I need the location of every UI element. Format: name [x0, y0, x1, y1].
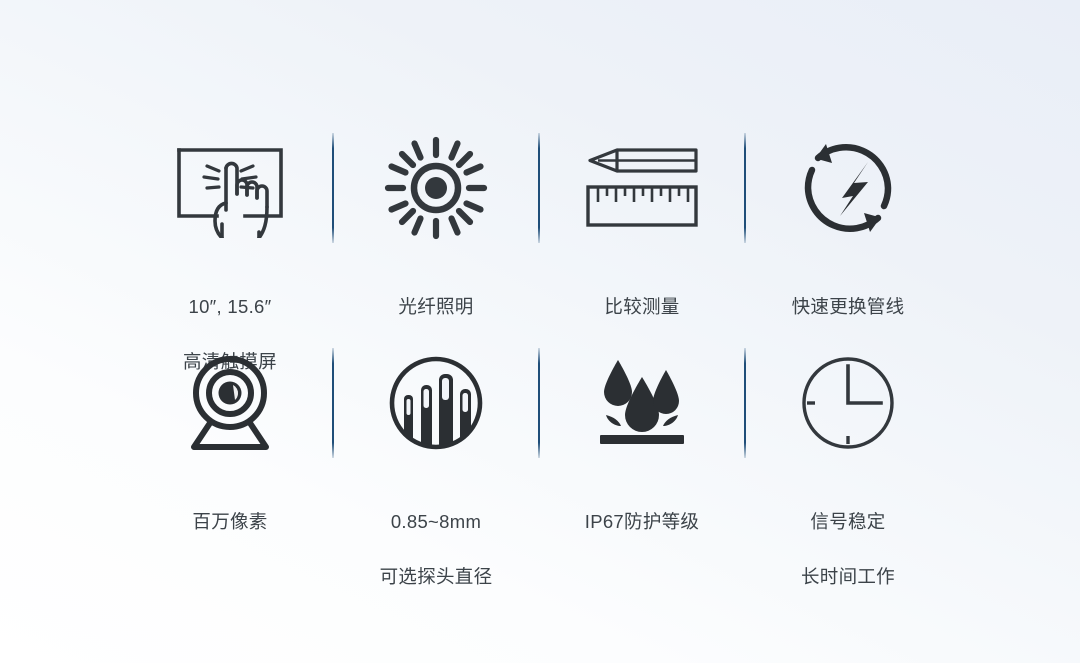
feature-label: 0.85~8mm 可选探头直径 — [380, 481, 493, 618]
feature-label: 信号稳定 长时间工作 — [801, 481, 895, 618]
feature-row: 10″, 15.6″ 高清触摸屏 — [128, 130, 960, 345]
feature-cell-probe-diameter[interactable]: 0.85~8mm 可选探头直径 — [334, 345, 538, 618]
feature-label-line: 长时间工作 — [801, 563, 895, 590]
feature-cell-fiber-light[interactable]: 光纤照明 — [334, 130, 538, 348]
sun-fiber-light-icon — [371, 130, 501, 246]
feature-highlight-panel: 10″, 15.6″ 高清触摸屏 — [0, 0, 1080, 663]
feature-label-line: 比较测量 — [604, 293, 679, 320]
feature-cell-comparative-measure[interactable]: 比较测量 — [540, 130, 744, 348]
feature-label: 百万像素 — [192, 481, 267, 563]
feature-label-line: 10″, 15.6″ — [183, 293, 277, 320]
feature-label-line: IP67防护等级 — [585, 508, 699, 535]
probe-diameter-icon — [371, 345, 501, 461]
feature-label: 光纤照明 — [398, 266, 473, 348]
clock-stable-signal-icon — [783, 345, 913, 461]
feature-label-line: 0.85~8mm — [380, 508, 493, 535]
feature-label-line: 可选探头直径 — [380, 563, 493, 590]
feature-row: 百万像素 — [128, 345, 960, 560]
feature-label: 比较测量 — [604, 266, 679, 348]
pencil-ruler-measure-icon — [577, 130, 707, 246]
feature-label-line: 快速更换管线 — [792, 293, 905, 320]
feature-label: IP67防护等级 — [585, 481, 699, 563]
feature-cell-ip67[interactable]: IP67防护等级 — [540, 345, 744, 563]
waterdrop-ip67-icon — [577, 345, 707, 461]
feature-cell-megapixel[interactable]: 百万像素 — [128, 345, 332, 563]
features-grid: 10″, 15.6″ 高清触摸屏 — [128, 130, 960, 560]
feature-label: 快速更换管线 — [792, 266, 905, 348]
fast-replace-cable-icon — [783, 130, 913, 246]
feature-cell-fast-replace-cable[interactable]: 快速更换管线 — [746, 130, 950, 348]
webcam-megapixel-icon — [165, 345, 295, 461]
feature-cell-stable-signal[interactable]: 信号稳定 长时间工作 — [746, 345, 950, 618]
touchscreen-hand-icon — [165, 130, 295, 246]
feature-label-line: 光纤照明 — [398, 293, 473, 320]
feature-label-line: 信号稳定 — [801, 508, 895, 535]
feature-label-line: 百万像素 — [192, 508, 267, 535]
